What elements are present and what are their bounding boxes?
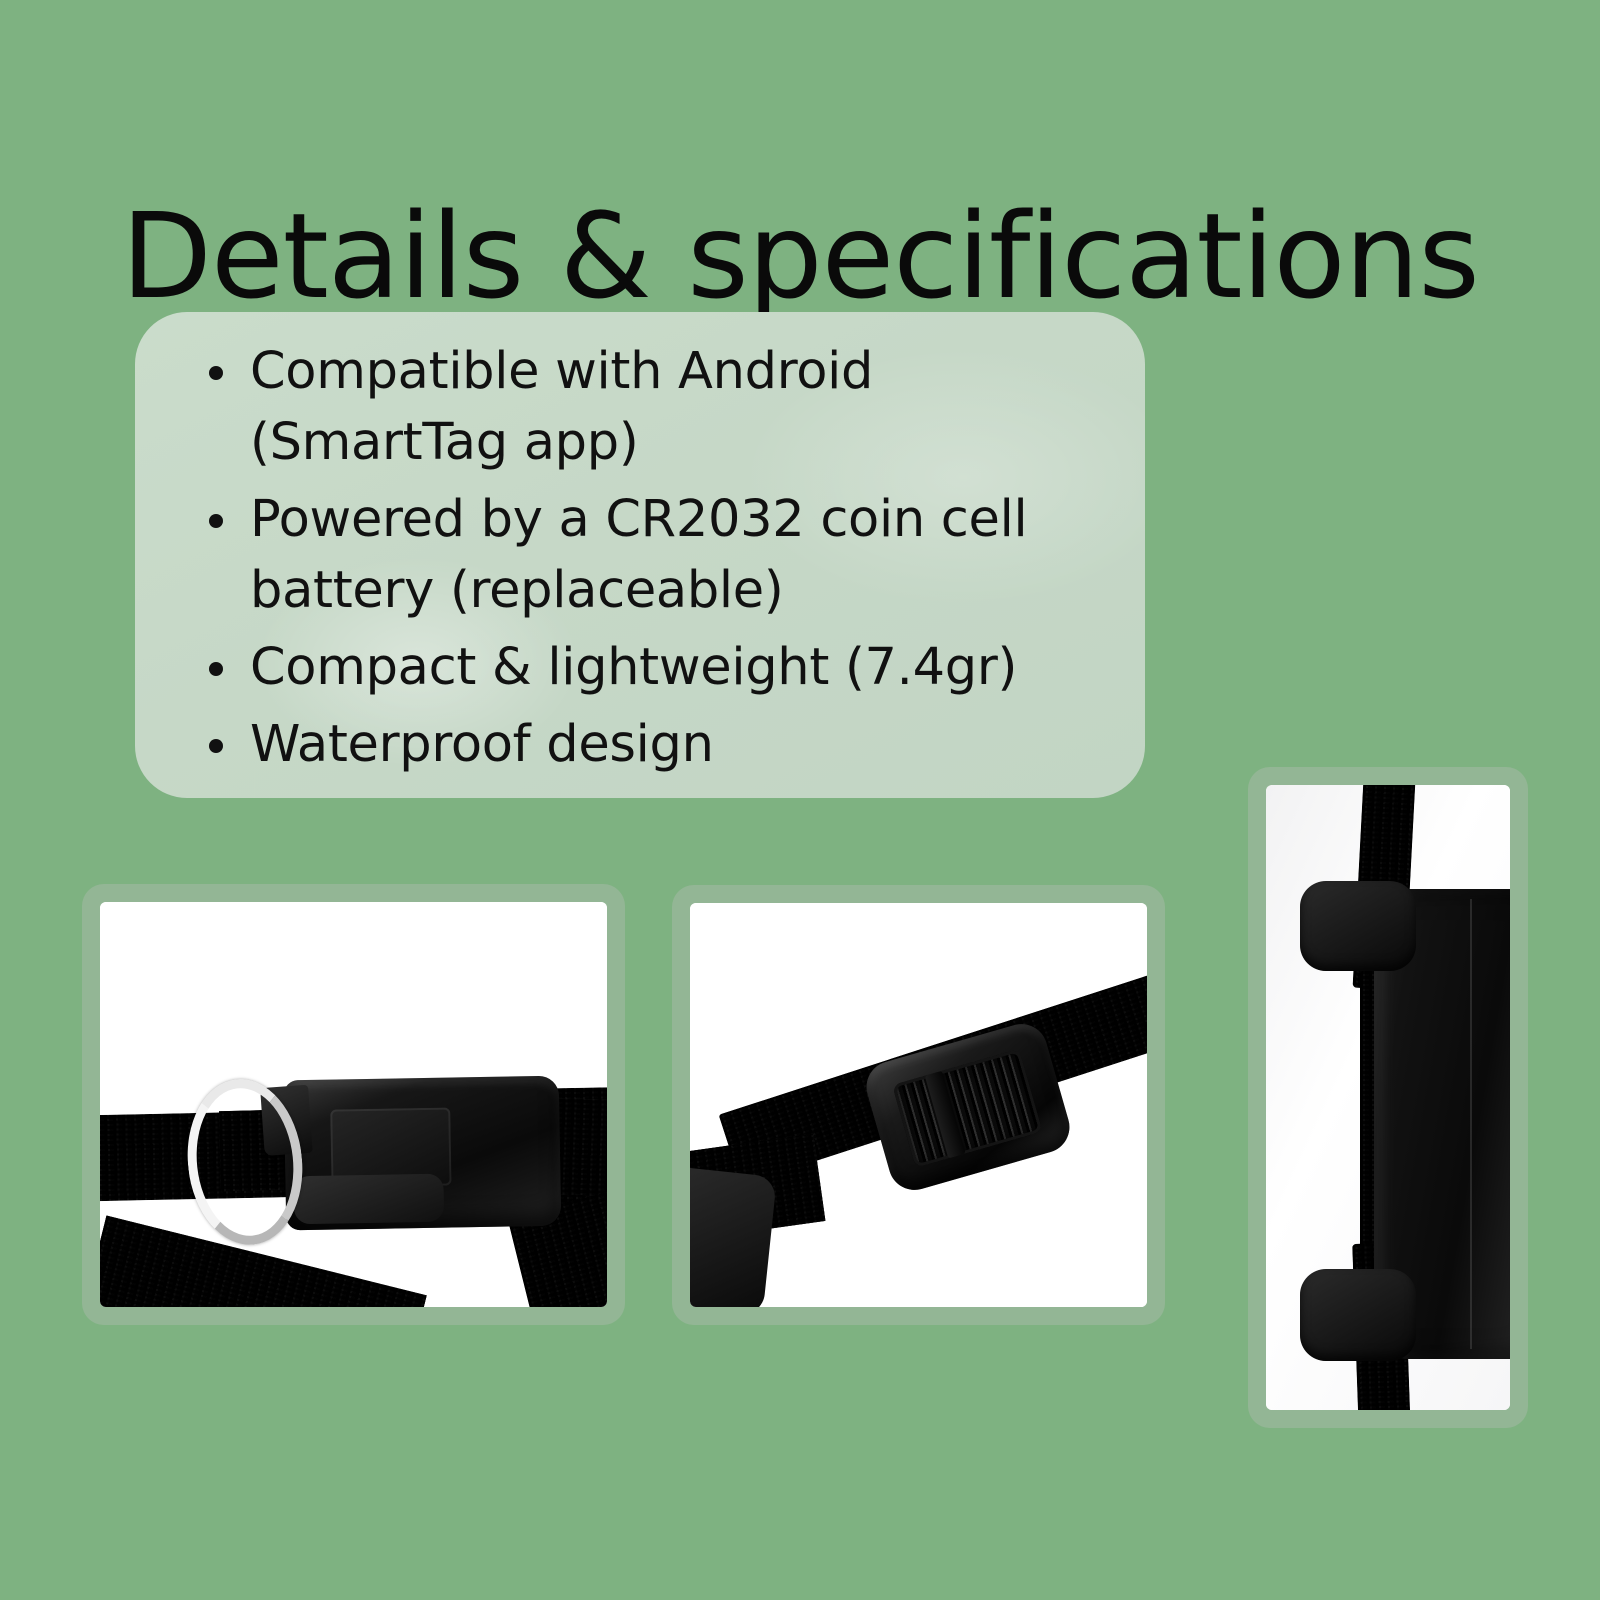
photo-tracker-attached-to-cord <box>1248 767 1528 1428</box>
list-item: Waterproof design <box>197 709 1105 780</box>
buckle-arm <box>293 1174 444 1225</box>
tracker-cord-clip-top <box>1300 881 1416 971</box>
tracker-seam-line <box>1470 899 1472 1349</box>
bullet-icon <box>209 662 223 676</box>
list-item-label: Waterproof design <box>250 709 1105 780</box>
list-item-label: Compatible with Android (SmartTag app) <box>250 336 1105 478</box>
photo-inner <box>1266 785 1510 1410</box>
photo-collar-buckle-and-d-ring <box>82 884 625 1325</box>
list-item: Compatible with Android (SmartTag app) <box>197 336 1105 478</box>
list-item: Powered by a CR2032 coin cell battery (r… <box>197 484 1105 626</box>
bullet-icon <box>209 366 223 380</box>
photo-collar-strap-slider-adjuster <box>672 885 1165 1325</box>
photo-inner <box>100 902 607 1307</box>
list-item-label: Powered by a CR2032 coin cell battery (r… <box>250 484 1105 626</box>
poster-canvas: Details & specifications Compatible with… <box>0 0 1600 1600</box>
tracker-cord-clip-bottom <box>1300 1269 1416 1361</box>
strap-end-fitting <box>690 1166 777 1307</box>
bullet-icon <box>209 739 223 753</box>
list-item: Compact & lightweight (7.4gr) <box>197 632 1105 703</box>
page-title: Details & specifications <box>0 197 1600 315</box>
bullet-icon <box>209 514 223 528</box>
side-release-buckle <box>284 1076 562 1231</box>
specifications-list: Compatible with Android (SmartTag app) P… <box>197 336 1105 780</box>
photo-inner <box>690 903 1147 1307</box>
list-item-label: Compact & lightweight (7.4gr) <box>250 632 1105 703</box>
specifications-card: Compatible with Android (SmartTag app) P… <box>135 312 1145 798</box>
slider-window <box>892 1049 1043 1168</box>
